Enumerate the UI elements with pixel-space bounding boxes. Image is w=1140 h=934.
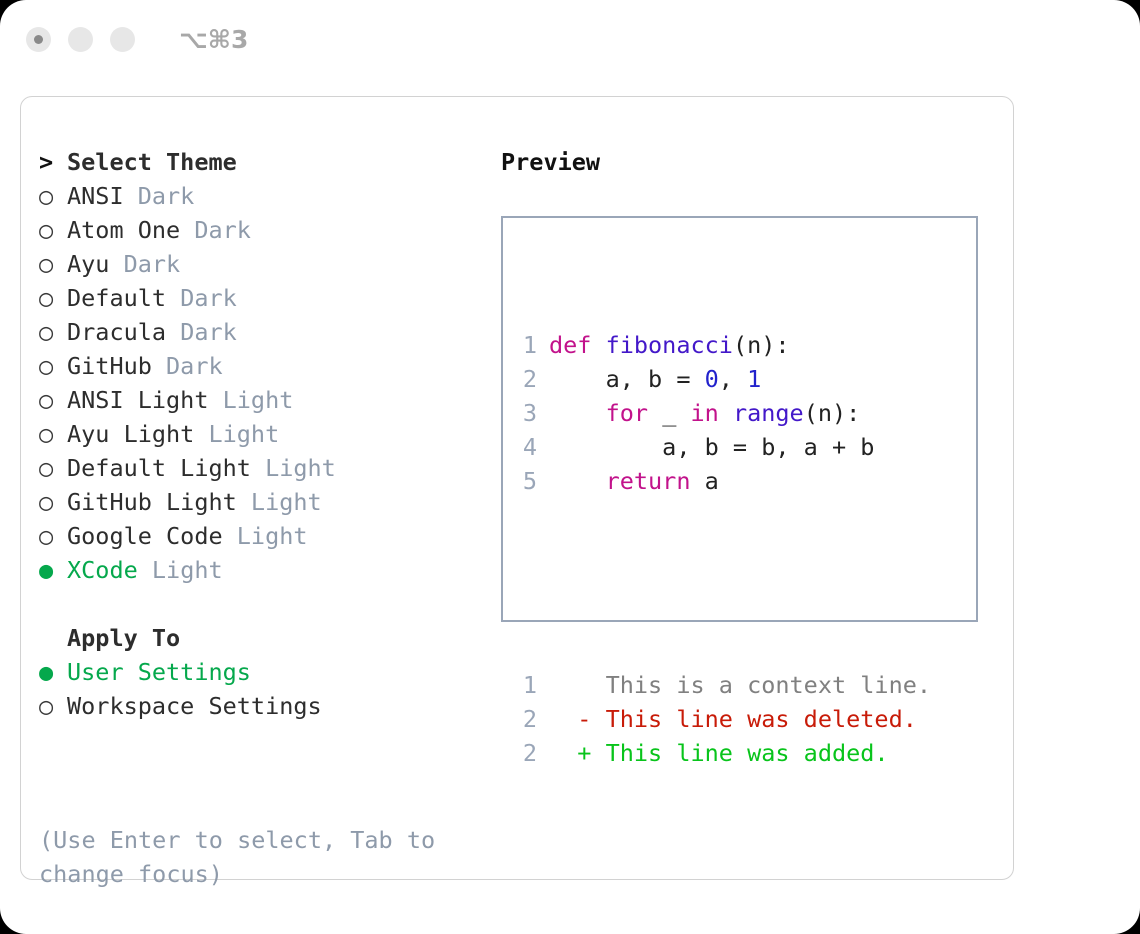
prompt-caret-icon: > [39,145,67,179]
diff-sign [549,671,591,699]
theme-option-ansi[interactable]: ○ANSI Dark [39,179,479,213]
code-token-kw: return [606,467,691,495]
radio-unselected-icon: ○ [39,689,67,723]
diff-text: This is a context line. [591,671,931,699]
radio-selected-icon: ● [39,655,67,689]
diff-text: This line was deleted. [591,705,916,733]
theme-option-default[interactable]: ○Default Dark [39,281,479,315]
radio-unselected-icon: ○ [39,247,67,281]
radio-unselected-icon: ○ [39,179,67,213]
code-token-num: 0 [705,365,719,393]
title-bar: ⌥⌘3 [0,0,1140,78]
code-sample-lines: 1def fibonacci(n):2 a, b = 0, 13 for _ i… [511,328,931,498]
diff-sign: + [549,739,591,767]
code-line: 5 return a [511,464,931,498]
theme-option-default-light[interactable]: ○Default Light Light [39,451,479,485]
theme-option-label: GitHub [67,352,152,380]
theme-option-kind: Dark [109,250,180,278]
theme-option-list: ○ANSI Dark○Atom One Dark○Ayu Dark○Defaul… [39,179,479,587]
apply-to-option-label: Workspace Settings [67,692,322,720]
apply-to-marker-placeholder: ○ [39,621,67,655]
code-line: 3 for _ in range(n): [511,396,931,430]
theme-option-github[interactable]: ○GitHub Dark [39,349,479,383]
theme-option-label: Ayu Light [67,420,194,448]
code-token-pln [719,399,733,427]
theme-option-kind: Dark [166,318,237,346]
theme-option-kind: Dark [180,216,251,244]
theme-option-github-light[interactable]: ○GitHub Light Light [39,485,479,519]
code-token-fn: fibonacci [606,331,733,359]
code-token-kw: in [691,399,719,427]
apply-to-option-label: User Settings [67,658,251,686]
window-dot-active-inner [34,35,43,44]
preview-column: Preview 1def fibonacci(n):2 a, b = 0, 13… [501,145,991,622]
theme-option-kind: Dark [124,182,195,210]
theme-option-ayu-light[interactable]: ○Ayu Light Light [39,417,479,451]
line-number: 1 [511,328,537,362]
theme-option-kind: Dark [152,352,223,380]
diff-line-deleted: 2 - This line was deleted. [511,702,931,736]
theme-option-xcode[interactable]: ●XCode Light [39,553,479,587]
keyboard-hint-text: (Use Enter to select, Tab to change focu… [39,823,469,891]
code-token-pln: a, b = [549,365,705,393]
radio-unselected-icon: ○ [39,315,67,349]
theme-option-kind: Light [194,420,279,448]
theme-option-label: Default [67,284,166,312]
theme-option-kind: Light [237,488,322,516]
apply-to-header: ○Apply To [39,621,479,655]
diff-sign: - [549,705,591,733]
apply-to-option-workspace-settings[interactable]: ○Workspace Settings [39,689,479,723]
theme-option-label: ANSI [67,182,124,210]
select-theme-header-label: Select Theme [67,148,237,176]
diff-line-added: 2 + This line was added. [511,736,931,770]
diff-sample-lines: 1 This is a context line.2 - This line w… [511,668,931,770]
line-number: 2 [511,362,537,396]
code-token-pln: _ [648,399,690,427]
line-number: 1 [511,668,537,702]
radio-unselected-icon: ○ [39,417,67,451]
code-blank-line [511,566,931,600]
select-theme-header: >Select Theme [39,145,479,179]
code-token-pln [549,399,606,427]
theme-option-label: GitHub Light [67,488,237,516]
line-number: 5 [511,464,537,498]
apply-to-header-label: Apply To [67,624,180,652]
theme-option-label: XCode [67,556,138,584]
code-line: 1def fibonacci(n): [511,328,931,362]
code-token-kw: for [606,399,648,427]
code-token-fn: range [733,399,804,427]
code-token-num: 1 [747,365,761,393]
code-token-pln [549,467,606,495]
theme-option-label: Dracula [67,318,166,346]
window-controls [26,27,135,52]
radio-unselected-icon: ○ [39,213,67,247]
theme-option-kind: Light [223,522,308,550]
keyboard-shortcut-label: ⌥⌘3 [179,25,248,54]
theme-option-kind: Light [251,454,336,482]
theme-option-label: ANSI Light [67,386,208,414]
theme-option-label: Ayu [67,250,109,278]
radio-unselected-icon: ○ [39,349,67,383]
radio-unselected-icon: ○ [39,451,67,485]
code-token-kw: def [549,331,606,359]
main-panel: >Select Theme ○ANSI Dark○Atom One Dark○A… [20,96,1014,880]
line-number: 4 [511,430,537,464]
diff-line-context: 1 This is a context line. [511,668,931,702]
radio-unselected-icon: ○ [39,519,67,553]
radio-unselected-icon: ○ [39,485,67,519]
radio-selected-icon: ● [39,553,67,587]
theme-option-kind: Dark [166,284,237,312]
preview-code: 1def fibonacci(n):2 a, b = 0, 13 for _ i… [511,260,931,838]
apply-to-option-list: ●User Settings○Workspace Settings [39,655,479,723]
code-line: 2 a, b = 0, 1 [511,362,931,396]
code-token-pln: a, b = b, a + b [549,433,874,461]
preview-title: Preview [501,145,991,179]
window-dot-third-icon[interactable] [110,27,135,52]
line-number: 2 [511,736,537,770]
window-dot-second-icon[interactable] [68,27,93,52]
app-window: ⌥⌘3 >Select Theme ○ANSI Dark○Atom One Da… [0,0,1140,934]
theme-option-ansi-light[interactable]: ○ANSI Light Light [39,383,479,417]
theme-option-label: Atom One [67,216,180,244]
radio-unselected-icon: ○ [39,281,67,315]
theme-option-google-code[interactable]: ○Google Code Light [39,519,479,553]
theme-option-dracula[interactable]: ○Dracula Dark [39,315,479,349]
radio-unselected-icon: ○ [39,383,67,417]
code-token-pln: (n): [733,331,790,359]
line-number: 2 [511,702,537,736]
theme-option-kind: Light [208,386,293,414]
diff-text: This line was added. [591,739,888,767]
apply-to-option-user-settings[interactable]: ●User Settings [39,655,479,689]
theme-selector-column: >Select Theme ○ANSI Dark○Atom One Dark○A… [39,145,479,723]
theme-option-ayu[interactable]: ○Ayu Dark [39,247,479,281]
theme-option-label: Default Light [67,454,251,482]
window-dot-active-icon[interactable] [26,27,51,52]
section-spacer [39,587,479,621]
line-number: 3 [511,396,537,430]
theme-option-label: Google Code [67,522,223,550]
code-token-pln: a [690,467,718,495]
code-line: 4 a, b = b, a + b [511,430,931,464]
code-token-pln: (n): [804,399,861,427]
theme-option-kind: Light [138,556,223,584]
code-token-pln: , [719,365,747,393]
theme-option-atom-one[interactable]: ○Atom One Dark [39,213,479,247]
preview-box: 1def fibonacci(n):2 a, b = 0, 13 for _ i… [501,216,978,622]
